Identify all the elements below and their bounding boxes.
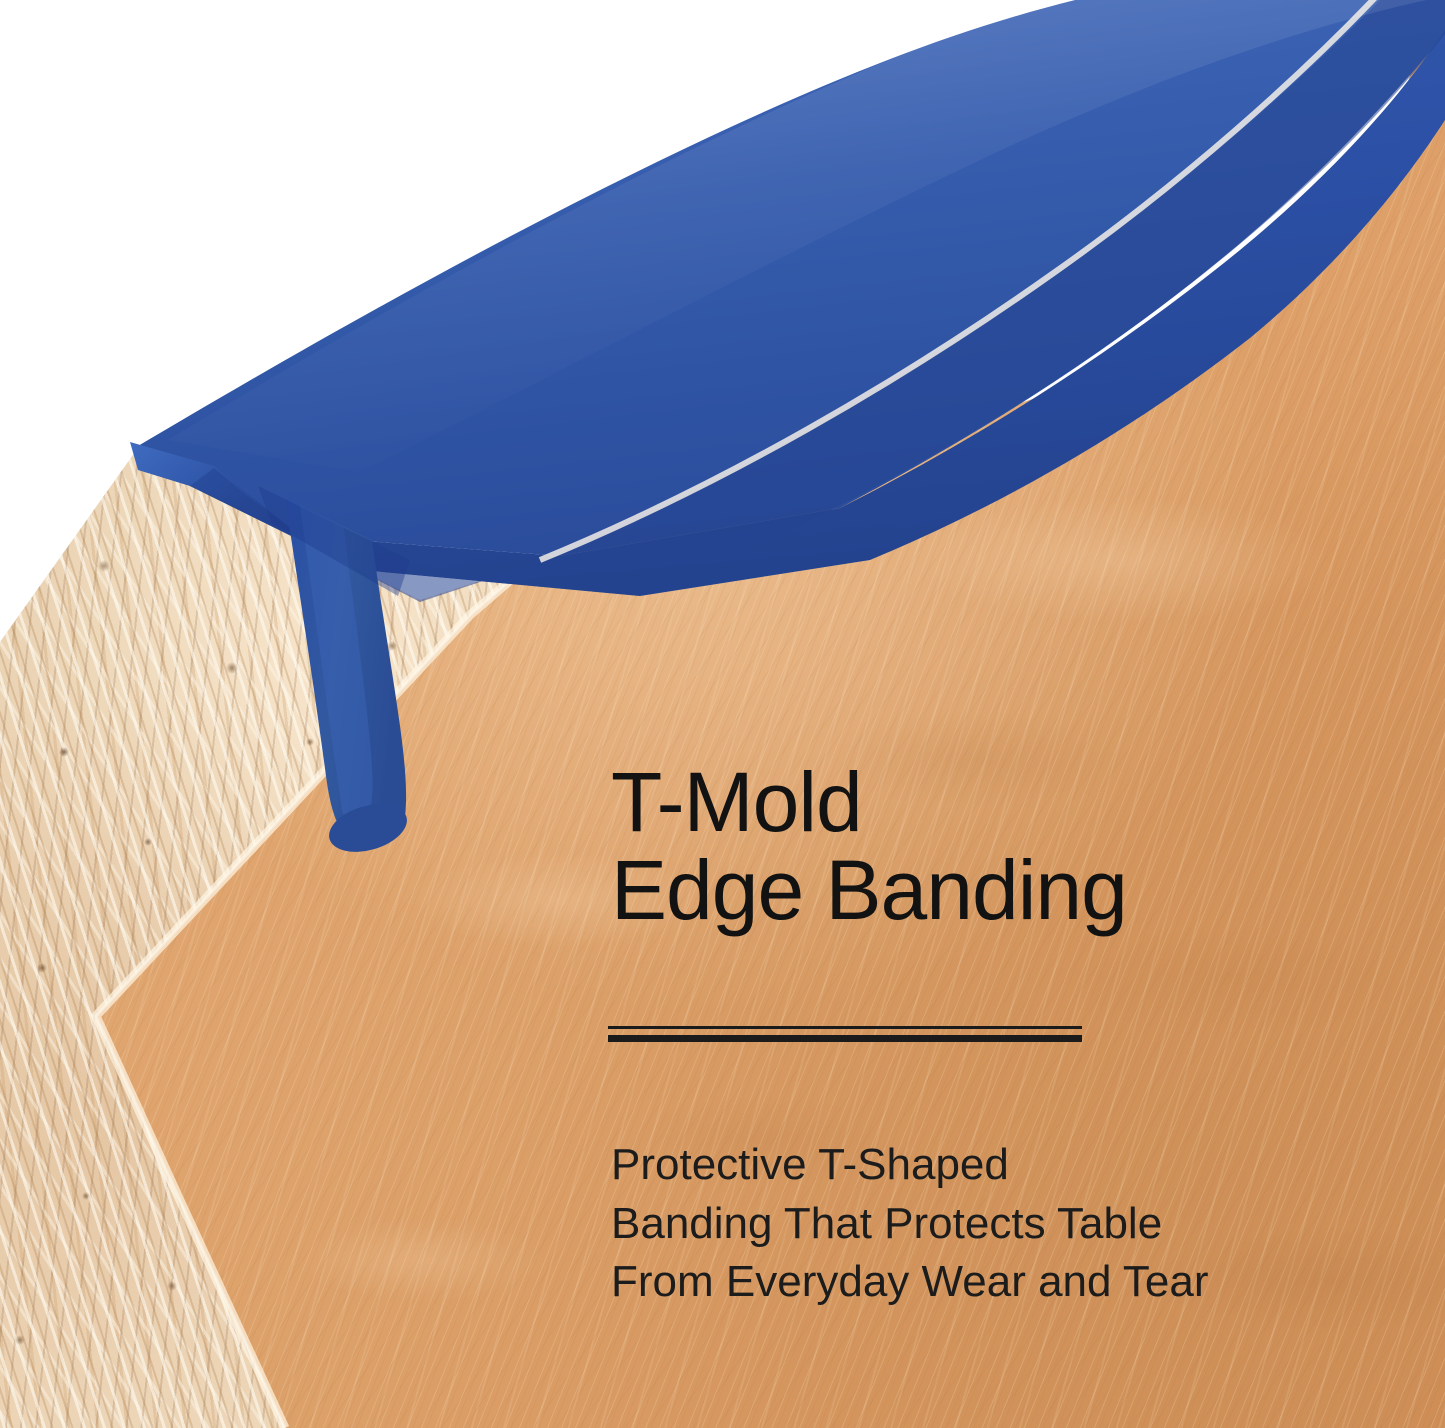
divider-thick-line (608, 1035, 1082, 1042)
page-title: T-Mold Edge Banding (611, 758, 1371, 934)
product-image: T-Mold Edge Banding Protective T-Shaped … (0, 0, 1445, 1428)
callout-body-text: Protective T-Shaped Banding That Protect… (611, 1136, 1351, 1312)
divider-double-rule (608, 1026, 1082, 1042)
callout-text-block: T-Mold Edge Banding Protective T-Shaped … (611, 758, 1371, 934)
